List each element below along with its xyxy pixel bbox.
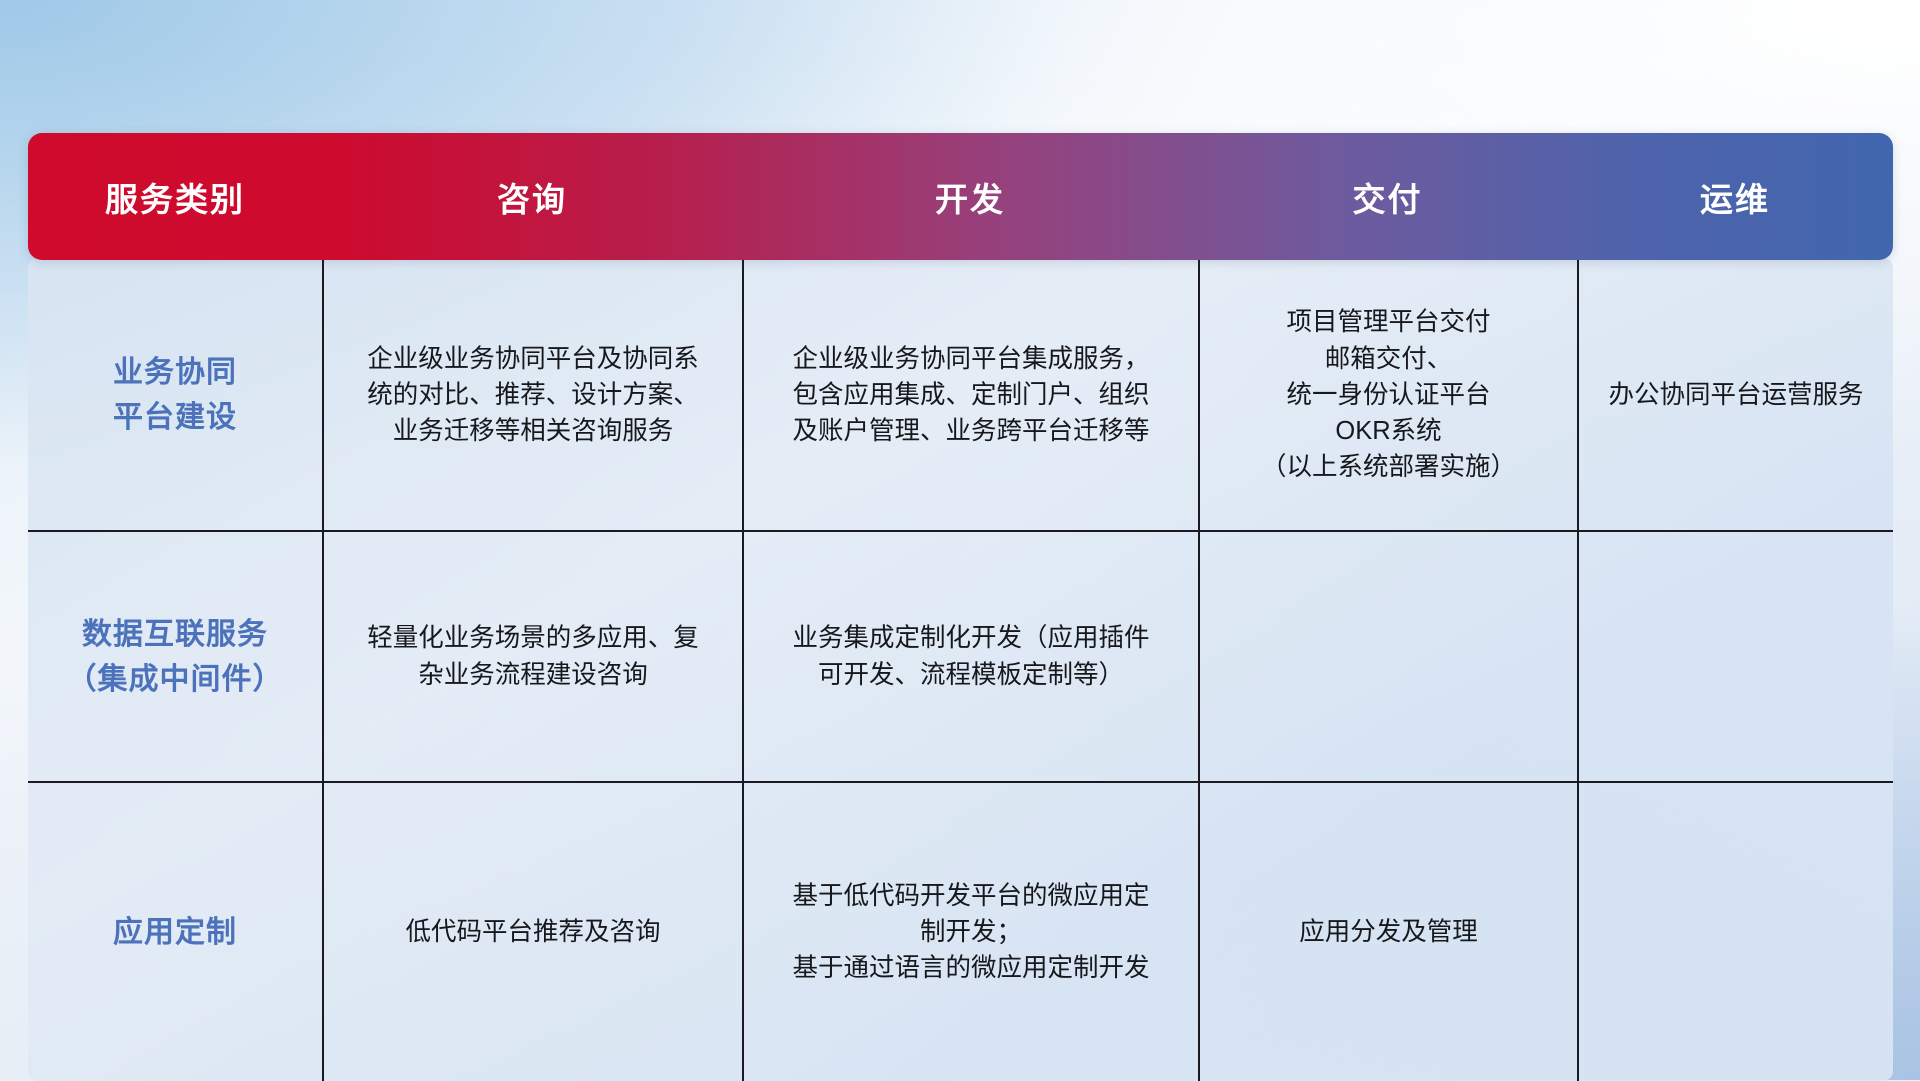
table-row: 数据互联服务 （集成中间件） 轻量化业务场景的多应用、复 杂业务流程建设咨询 业… — [28, 530, 1893, 781]
row-label-business-collaboration: 业务协同 平台建设 — [28, 260, 322, 530]
cell-r2-development: 基于低代码开发平台的微应用定 制开发； 基于通过语言的微应用定制开发 — [742, 783, 1198, 1081]
cell-r1-consulting: 轻量化业务场景的多应用、复 杂业务流程建设咨询 — [322, 532, 742, 781]
row-label-app-customization: 应用定制 — [28, 783, 322, 1081]
column-header-delivery: 交付 — [1198, 173, 1577, 221]
cell-r0-development: 企业级业务协同平台集成服务， 包含应用集成、定制门户、组织 及账户管理、业务跨平… — [742, 260, 1198, 530]
service-matrix-table: 服务类别 咨询 开发 交付 运维 业务协同 平台建设 企业级业务协同平台及协同系… — [28, 133, 1893, 950]
table-grid: 业务协同 平台建设 企业级业务协同平台及协同系 统的对比、推荐、设计方案、 业务… — [28, 260, 1893, 1081]
cell-r1-delivery — [1198, 532, 1577, 781]
table-header-row: 服务类别 咨询 开发 交付 运维 — [28, 133, 1893, 260]
cell-r2-delivery: 应用分发及管理 — [1198, 783, 1577, 1081]
row-label-data-interconnect: 数据互联服务 （集成中间件） — [28, 532, 322, 781]
cell-r0-delivery: 项目管理平台交付 邮箱交付、 统一身份认证平台 OKR系统 （以上系统部署实施） — [1198, 260, 1577, 530]
cell-r0-consulting: 企业级业务协同平台及协同系 统的对比、推荐、设计方案、 业务迁移等相关咨询服务 — [322, 260, 742, 530]
column-header-development: 开发 — [742, 173, 1198, 221]
column-header-category: 服务类别 — [28, 173, 322, 221]
cell-r2-consulting: 低代码平台推荐及咨询 — [322, 783, 742, 1081]
cell-r0-operations: 办公协同平台运营服务 — [1577, 260, 1893, 530]
cell-r2-operations — [1577, 783, 1893, 1081]
cell-r1-development: 业务集成定制化开发（应用插件 可开发、流程模板定制等） — [742, 532, 1198, 781]
column-header-operations: 运维 — [1577, 173, 1893, 221]
cell-r1-operations — [1577, 532, 1893, 781]
table-row: 业务协同 平台建设 企业级业务协同平台及协同系 统的对比、推荐、设计方案、 业务… — [28, 260, 1893, 530]
table-row: 应用定制 低代码平台推荐及咨询 基于低代码开发平台的微应用定 制开发； 基于通过… — [28, 781, 1893, 1081]
column-header-consulting: 咨询 — [322, 173, 742, 221]
